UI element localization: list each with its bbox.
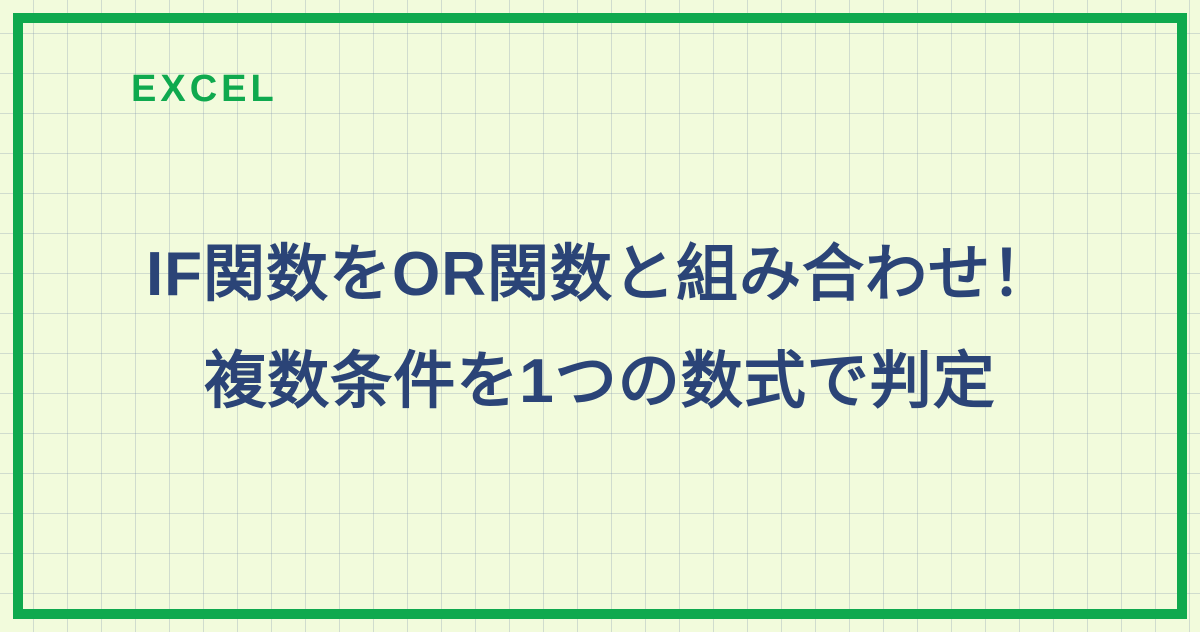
title-line-2: 複数条件を1つの数式で判定	[0, 329, 1200, 436]
category-label: EXCEL	[131, 69, 278, 111]
title-line-1: IF関数をOR関数と組み合わせ！	[0, 222, 1200, 329]
banner-content: EXCEL IF関数をOR関数と組み合わせ！ 複数条件を1つの数式で判定	[0, 0, 1200, 632]
page-title: IF関数をOR関数と組み合わせ！ 複数条件を1つの数式で判定	[0, 222, 1200, 435]
eyecatch-banner: EXCEL IF関数をOR関数と組み合わせ！ 複数条件を1つの数式で判定	[0, 0, 1200, 632]
